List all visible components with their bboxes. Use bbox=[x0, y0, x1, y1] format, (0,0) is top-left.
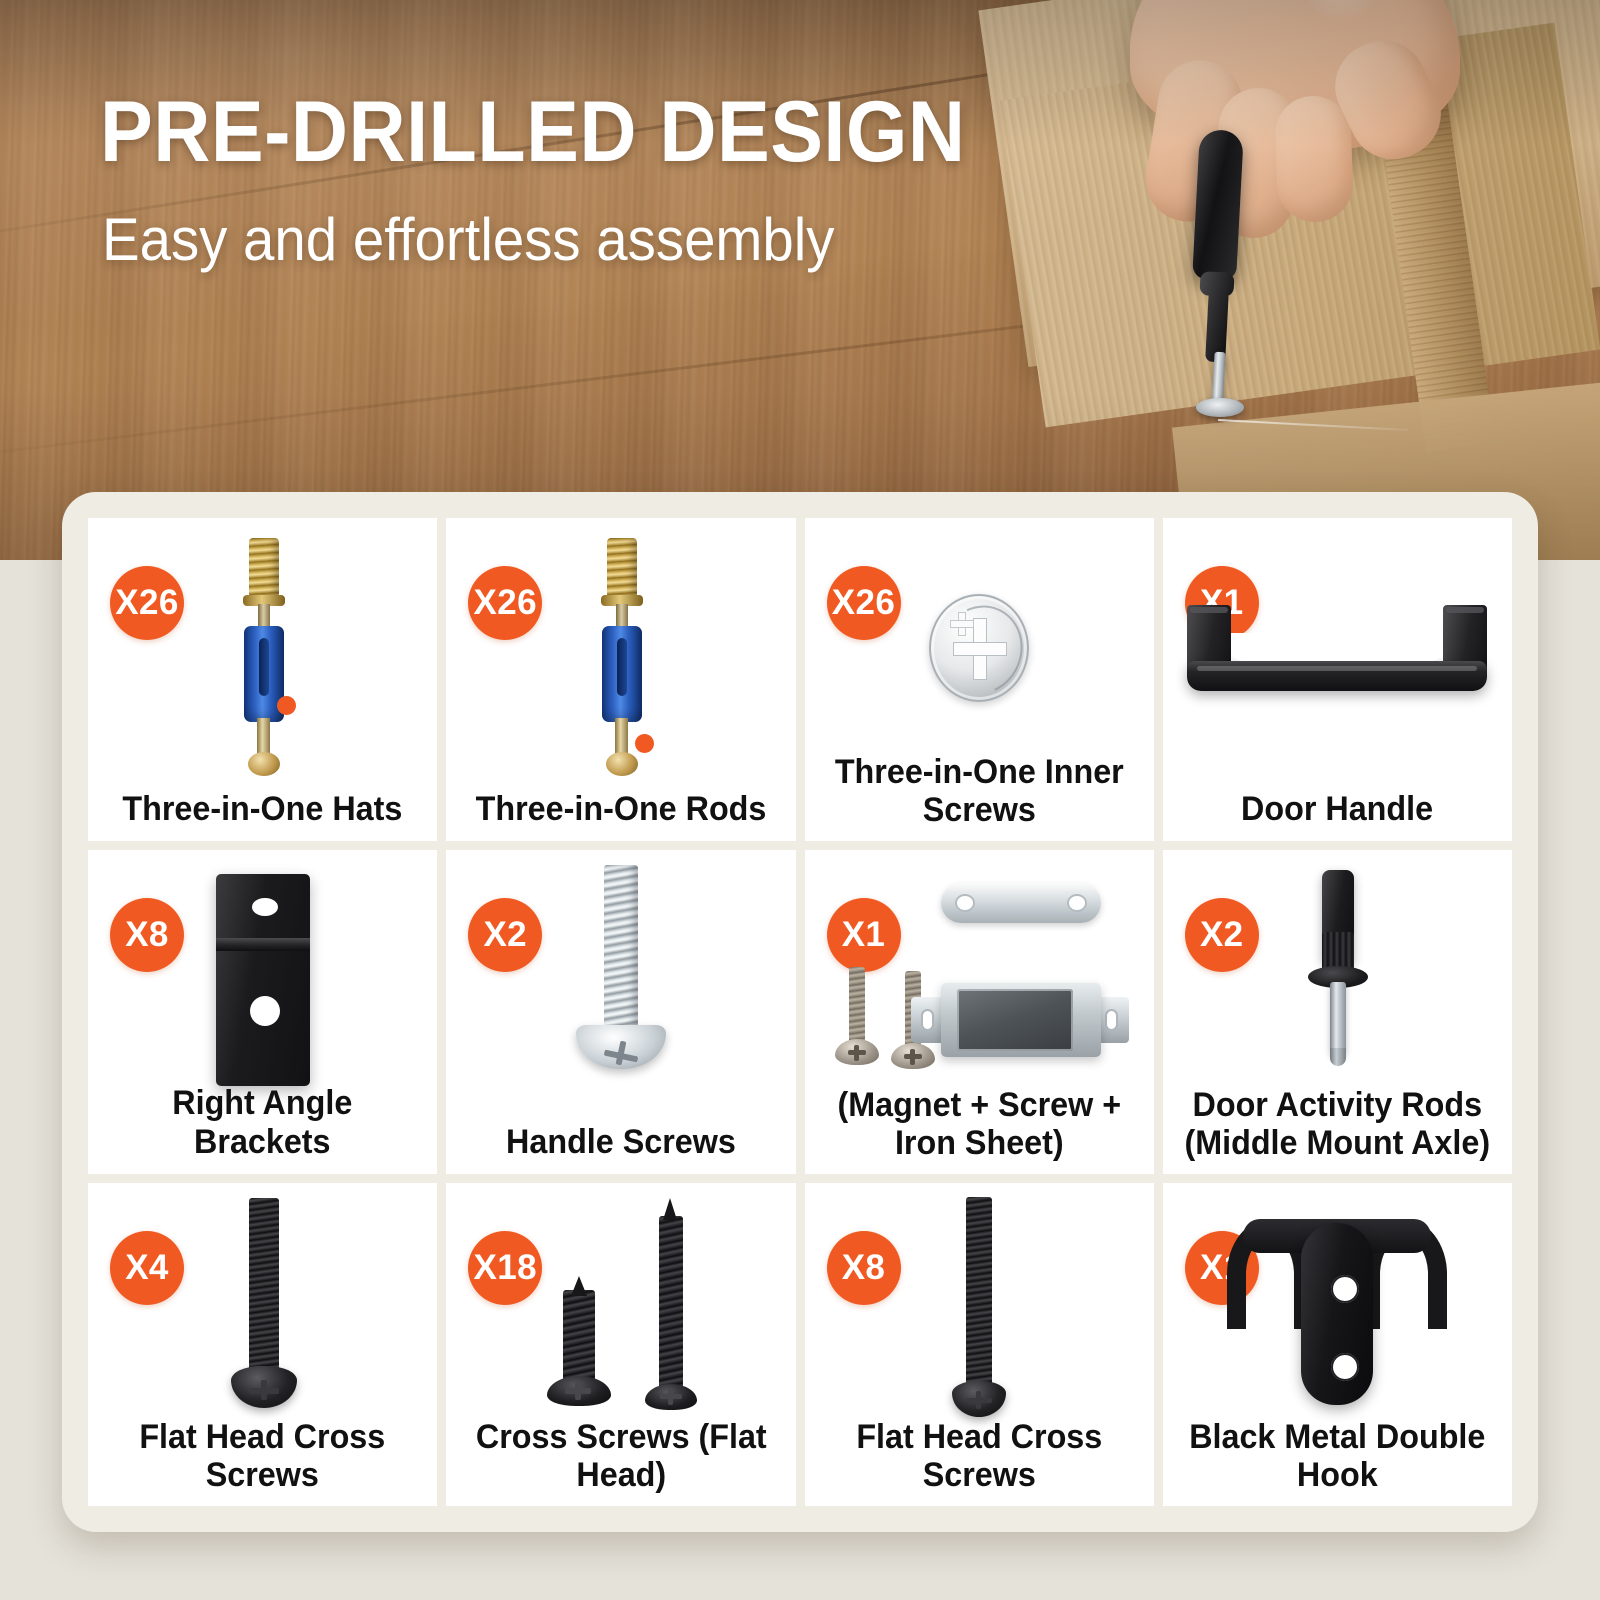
page-title: PRE-DRILLED DESIGN bbox=[100, 88, 1020, 176]
cross-screw-long-icon bbox=[637, 1198, 707, 1424]
part-label: Handle Screws bbox=[506, 1123, 736, 1162]
magnet-catch-icon bbox=[805, 864, 1154, 1096]
part-cell-double-hook: X1 Black Metal Double Hook bbox=[1163, 1183, 1512, 1506]
cross-screw-short-icon bbox=[539, 1276, 619, 1416]
flat-head-cross-screw-icon bbox=[88, 1197, 437, 1429]
part-label: (Magnet + Screw + Iron Sheet) bbox=[824, 1086, 1134, 1162]
part-cell-right-angle-brackets: X8 Right Angle Brackets bbox=[88, 850, 437, 1173]
part-cell-magnet-set: X1 bbox=[805, 850, 1154, 1173]
three-in-one-hat-icon bbox=[88, 532, 437, 764]
part-cell-flat-head-cross-screws-long: X8 Flat Head Cross Screws bbox=[805, 1183, 1154, 1506]
part-label: Three-in-One Inner Screws bbox=[824, 753, 1134, 829]
door-handle-icon bbox=[1163, 532, 1512, 764]
machine-screw-icon bbox=[446, 864, 795, 1096]
part-label: Three-in-One Hats bbox=[123, 790, 403, 829]
double-hook-icon bbox=[1163, 1197, 1512, 1429]
part-cell-door-activity-rods: X2 Door Activity Rods (Middle Mount Axle… bbox=[1163, 850, 1512, 1173]
cam-disc-icon bbox=[805, 532, 1154, 764]
iron-sheet-icon bbox=[941, 883, 1101, 923]
cross-screw-icon bbox=[446, 1197, 795, 1429]
part-cell-three-in-one-hats: X26 Three-in-One Hats bbox=[88, 518, 437, 841]
parts-grid: X26 Three-in-One Hats X26 bbox=[88, 518, 1512, 1506]
part-cell-flat-head-cross-screws: X4 Flat Head Cross Screws bbox=[88, 1183, 437, 1506]
parts-list-panel: X26 Three-in-One Hats X26 bbox=[62, 492, 1538, 1532]
part-cell-cross-screws: X18 bbox=[446, 1183, 795, 1506]
three-in-one-rod-icon bbox=[446, 532, 795, 764]
infographic-page: PRE-DRILLED DESIGN Easy and effortless a… bbox=[0, 0, 1600, 1600]
part-label: Three-in-One Rods bbox=[476, 790, 767, 829]
part-label: Flat Head Cross Screws bbox=[107, 1418, 417, 1494]
part-label: Black Metal Double Hook bbox=[1182, 1418, 1492, 1494]
part-cell-three-in-one-rods: X26 Three-in-One Rods bbox=[446, 518, 795, 841]
part-cell-handle-screws: X2 Handle Screws bbox=[446, 850, 795, 1173]
door-activity-rod-icon bbox=[1163, 864, 1512, 1096]
screw-icon bbox=[835, 967, 879, 1077]
page-subtitle: Easy and effortless assembly bbox=[102, 208, 1042, 272]
part-label: Door Activity Rods (Middle Mount Axle) bbox=[1182, 1086, 1492, 1162]
part-label: Right Angle Brackets bbox=[107, 1084, 417, 1162]
part-label: Cross Screws (Flat Head) bbox=[466, 1418, 776, 1494]
part-cell-door-handle: X1 Door Handle bbox=[1163, 518, 1512, 841]
right-angle-bracket-icon bbox=[88, 864, 437, 1096]
part-label: Door Handle bbox=[1241, 790, 1433, 829]
part-cell-three-in-one-inner-screws: X26 Three-in-One Inner Screws bbox=[805, 518, 1154, 841]
flat-head-cross-screw-long-icon bbox=[805, 1197, 1154, 1429]
part-label: Flat Head Cross Screws bbox=[824, 1418, 1134, 1494]
